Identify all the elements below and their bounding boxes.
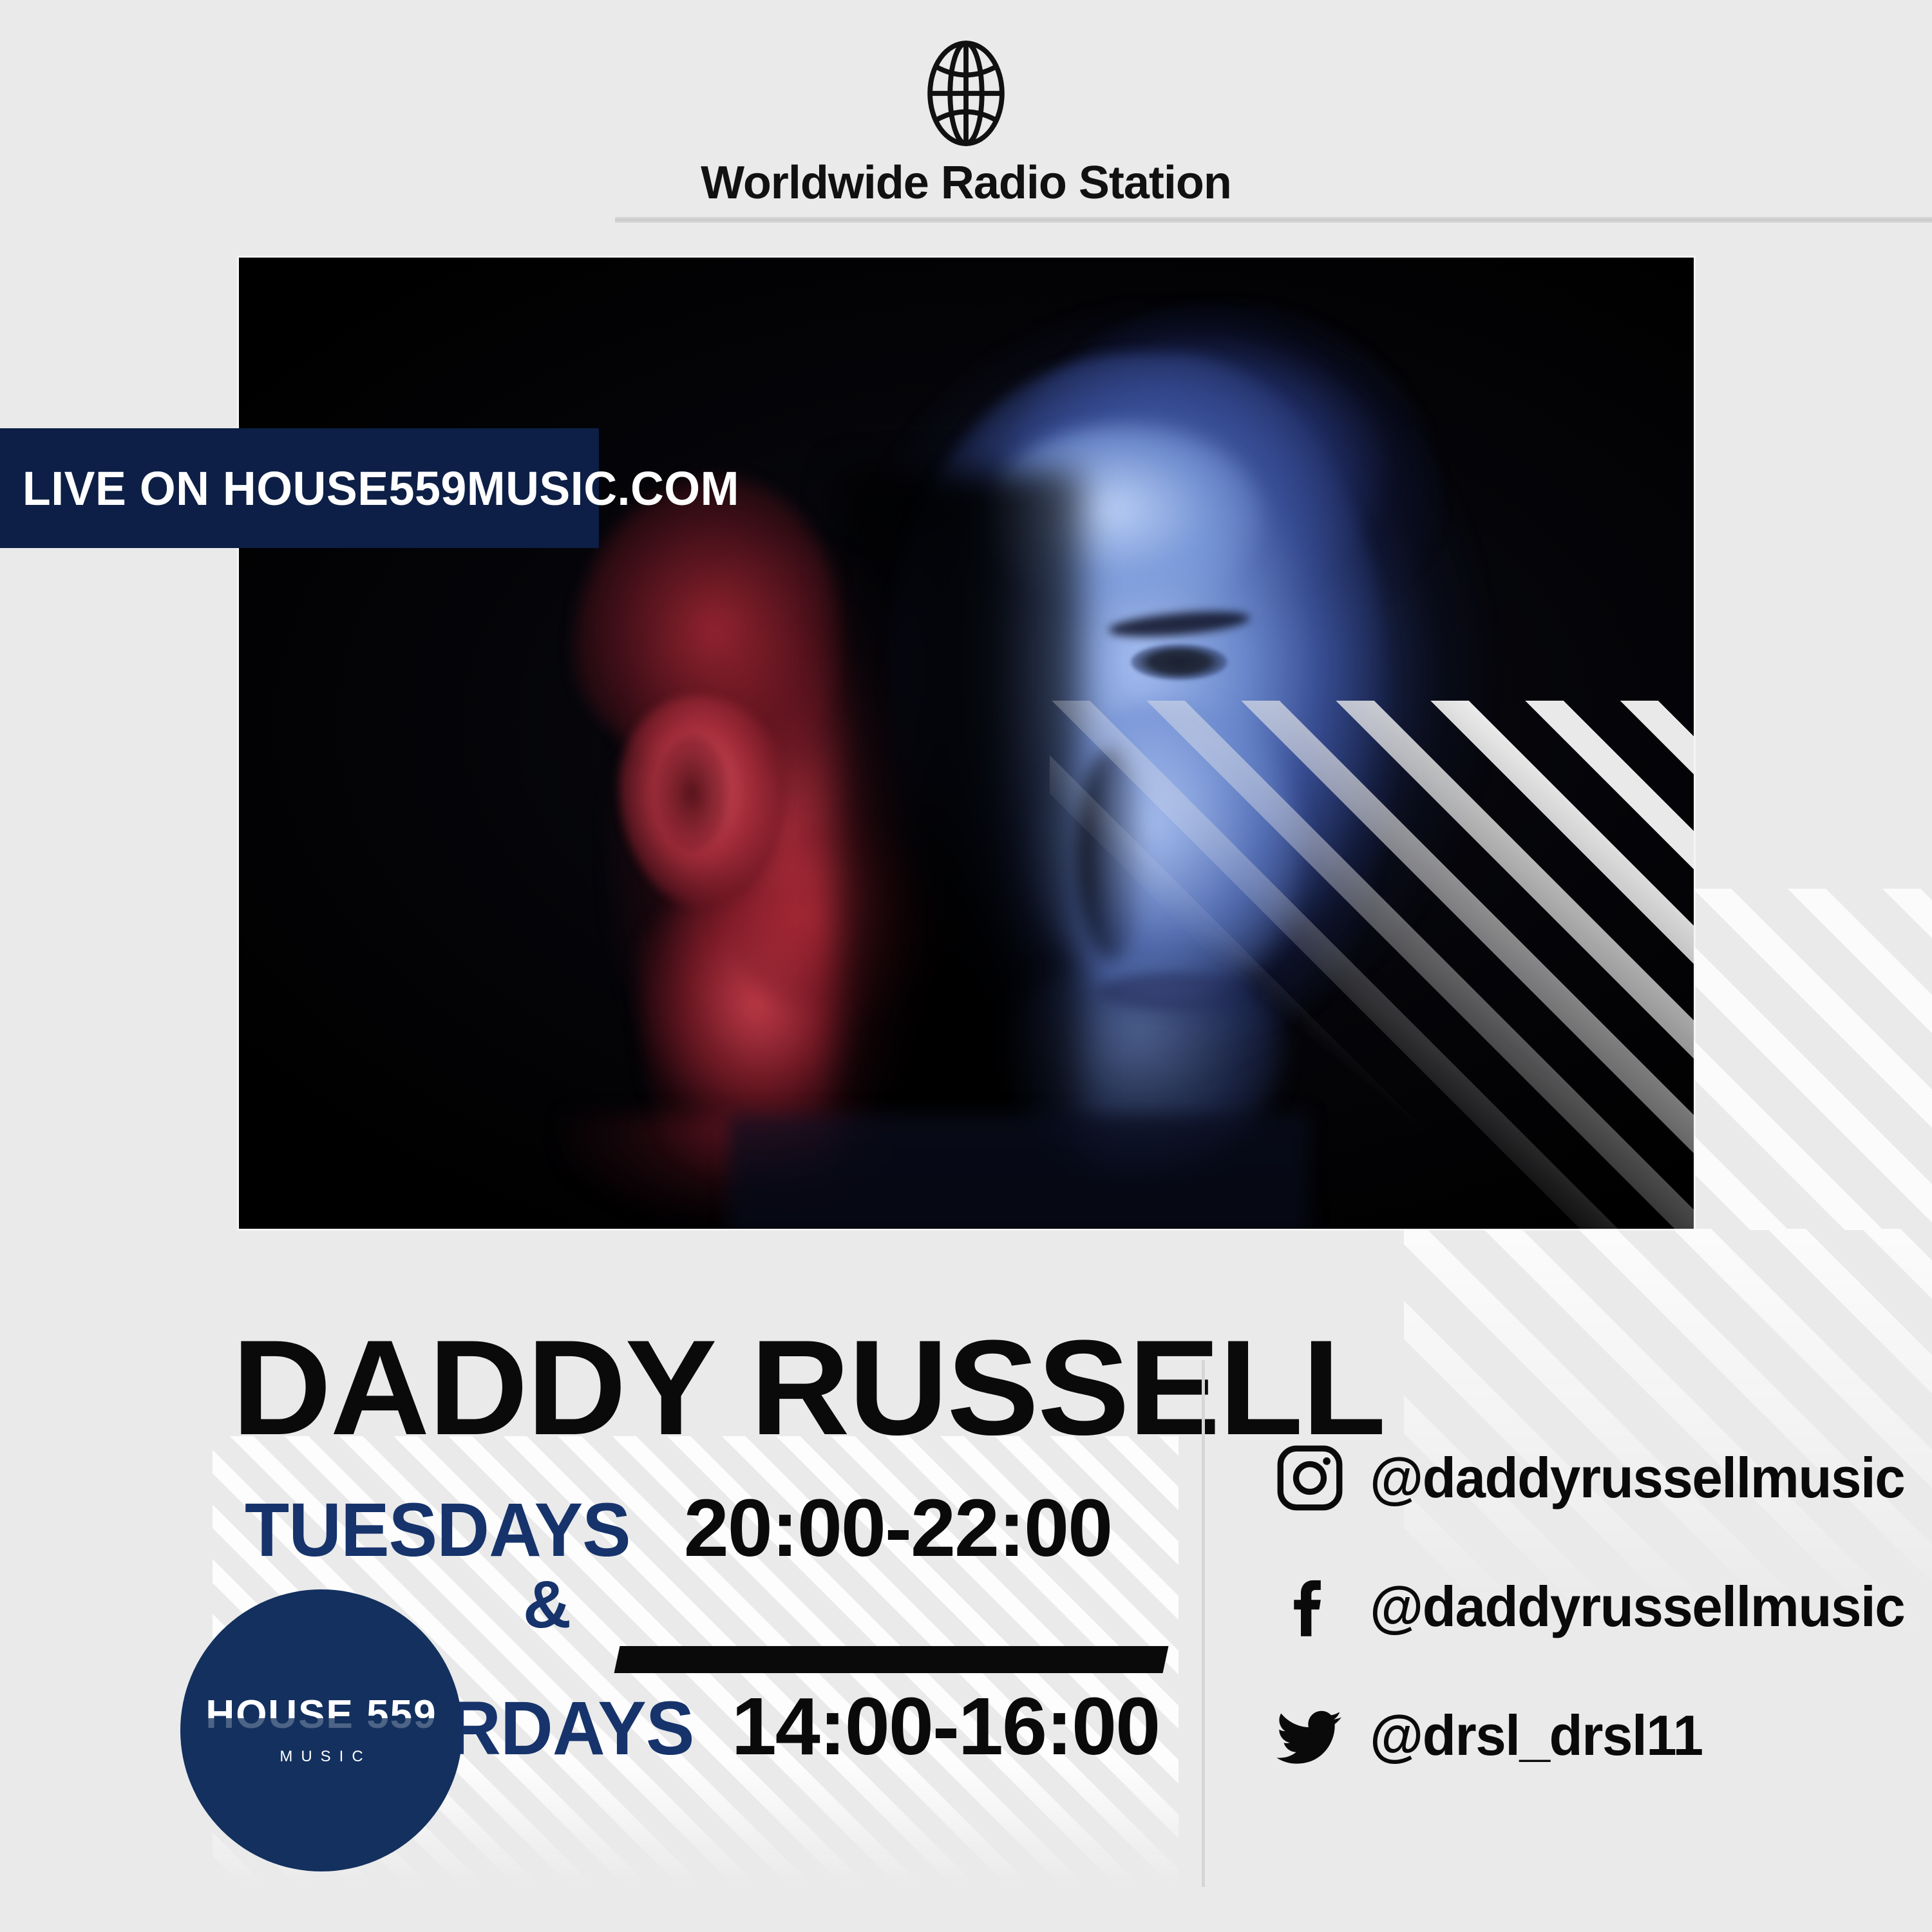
- schedule-day: TUESDAYS: [245, 1492, 630, 1568]
- diagonal-stripes-upper: [1694, 889, 1932, 1230]
- schedule-underline-bar: [614, 1646, 1169, 1673]
- social-handle: @daddyrussellmusic: [1370, 1445, 1904, 1511]
- social-row-facebook[interactable]: @daddyrussellmusic: [1272, 1542, 1916, 1671]
- dj-portrait-photo: [239, 258, 1694, 1229]
- header-divider: [615, 217, 1932, 223]
- house559-logo-badge: HOUSE 559 MUSIC: [180, 1589, 462, 1871]
- social-row-twitter[interactable]: @drsl_drsl11: [1272, 1671, 1916, 1800]
- logo-wordmark: HOUSE 559: [205, 1695, 437, 1735]
- instagram-icon: [1272, 1442, 1348, 1514]
- social-row-instagram[interactable]: @daddyrussellmusic: [1272, 1414, 1916, 1542]
- social-handle: @daddyrussellmusic: [1370, 1574, 1904, 1640]
- live-banner: LIVE ON HOUSE559MUSIC.COM: [0, 428, 599, 548]
- twitter-icon: [1272, 1700, 1348, 1772]
- vertical-divider: [1202, 1360, 1205, 1887]
- social-links: @daddyrussellmusic @daddyrussellmusic @d…: [1272, 1414, 1916, 1800]
- ear-inner-shadow: [656, 735, 728, 851]
- schedule-row: TUESDAYS 20:00-22:00: [232, 1488, 1185, 1569]
- promo-poster: Worldwide Radio Station LIVE ON HOUSE559…: [0, 0, 1932, 1932]
- live-banner-text: LIVE ON HOUSE559MUSIC.COM: [0, 461, 739, 516]
- social-handle: @drsl_drsl11: [1370, 1703, 1703, 1768]
- header: Worldwide Radio Station: [0, 39, 1932, 206]
- globe-icon: [924, 39, 1008, 148]
- schedule-time: 14:00-16:00: [732, 1686, 1159, 1767]
- schedule-separator: &: [523, 1571, 1185, 1638]
- schedule-time: 20:00-22:00: [684, 1488, 1112, 1569]
- station-name: Worldwide Radio Station: [0, 160, 1932, 206]
- diagonal-stripes-overlay: [1050, 701, 1694, 1229]
- page-title: DADDY RUSSELL: [232, 1320, 1385, 1455]
- logo-subtitle: MUSIC: [271, 1748, 371, 1766]
- eye: [1131, 644, 1227, 680]
- facebook-icon: [1272, 1571, 1348, 1643]
